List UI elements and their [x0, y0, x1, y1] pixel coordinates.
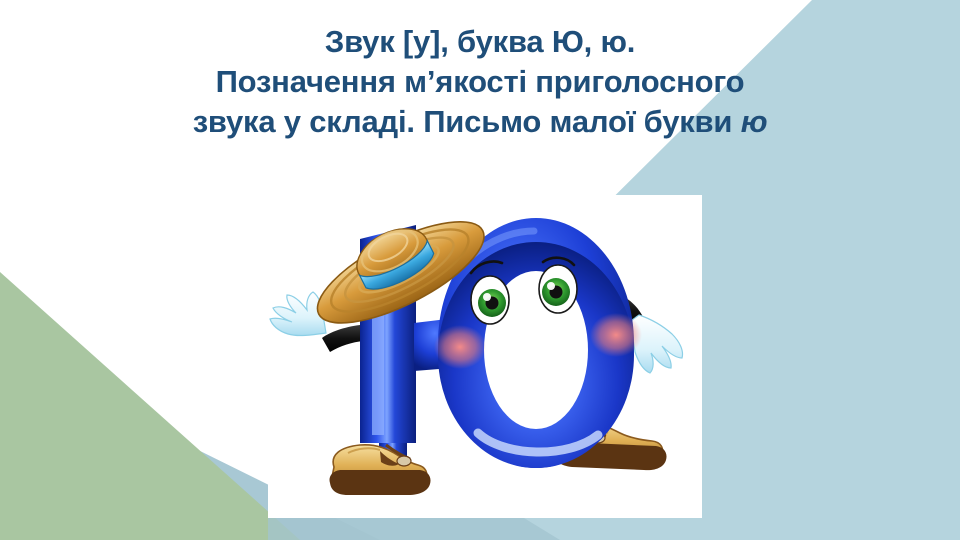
- title-line-1: Звук [у], буква Ю, ю.: [0, 22, 960, 62]
- title-line-3-italic-letter: ю: [741, 104, 768, 139]
- bottom-left-green-triangle: [0, 272, 300, 540]
- title-line-2: Позначення м’якості приголосного: [0, 62, 960, 102]
- cartoon-letter-yu-illustration: [268, 195, 702, 518]
- illustration-card: Мультиплікаційна синя літера Ю у солом’я…: [268, 195, 702, 518]
- title-line-3: звука у складі. Письмо малої букви ю: [0, 102, 960, 142]
- title-line-3-plain: звука у складі. Письмо малої букви: [193, 104, 741, 139]
- bottom-blue-band: [0, 352, 268, 540]
- presentation-slide: Звук [у], буква Ю, ю. Позначення м’якост…: [0, 0, 960, 540]
- slide-title: Звук [у], буква Ю, ю. Позначення м’якост…: [0, 22, 960, 142]
